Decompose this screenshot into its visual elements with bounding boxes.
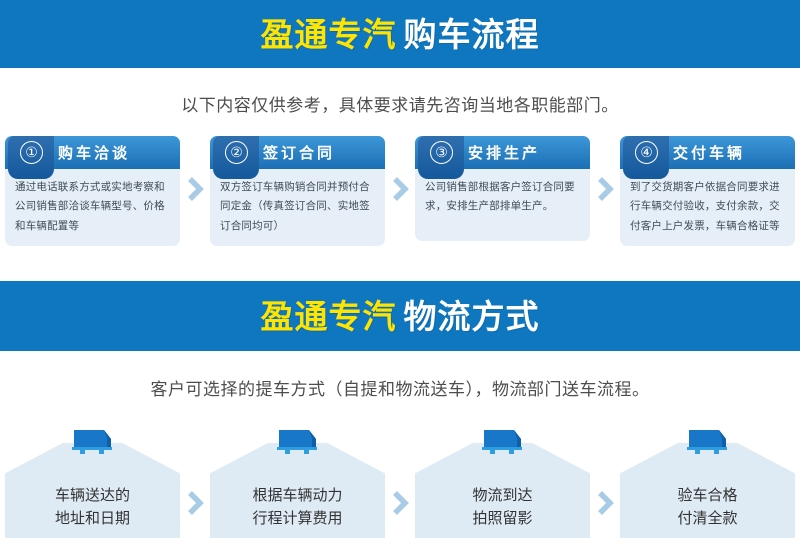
step-title-1: 购车洽谈 (58, 142, 130, 163)
step-title-4: 交付车辆 (673, 142, 745, 163)
logistics-banner: 盈通专汽 物流方式 (0, 281, 800, 351)
step-body-1: 通过电话联系方式或实地考察和公司销售部洽谈车辆型号、价格和车辆配置等 (5, 169, 180, 246)
truck-icon-4 (685, 426, 731, 460)
purchase-step-4[interactable]: ④ 交付车辆 到了交货期客户依据合同要求进行车辆交付验收，支付余款，交付客户上户… (620, 136, 795, 246)
logistics-intro-text: 客户可选择的提车方式（自提和物流送车），物流部门送车流程。 (0, 351, 800, 400)
brand-name: 盈通专汽 (261, 18, 397, 51)
purchase-step-1[interactable]: ① 购车洽谈 通过电话联系方式或实地考察和公司销售部洽谈车辆型号、价格和车辆配置… (5, 136, 210, 246)
step-number-badge-2: ② (225, 141, 248, 164)
step-body-4: 到了交货期客户依据合同要求进行车辆交付验收，支付余款，交付客户上户发票，车辆合格… (620, 169, 795, 246)
logistics-step-line2-2: 行程计算费用 (210, 507, 385, 530)
logistics-step-2[interactable]: 根据车辆动力 行程计算费用 (210, 426, 415, 538)
purchase-step-card-3: ③ 安排生产 公司销售部根据客户签订合同要求，安排生产部排单生产。 (415, 136, 590, 241)
purchase-step-header-1: ① 购车洽谈 (5, 136, 180, 169)
purchase-step-header-4: ④ 交付车辆 (620, 136, 795, 169)
purchase-step-header-2: ② 签订合同 (210, 136, 385, 169)
logistics-step-text-4: 验车合格 付清全款 (620, 484, 795, 531)
step-number-badge-4: ④ (635, 141, 658, 164)
logistics-step-line1-3: 物流到达 (415, 484, 590, 507)
purchase-step-card-2: ② 签订合同 双方签订车辆购销合同并预付合同定金（传真签订合同、实地签订合同均可… (210, 136, 385, 246)
purchase-step-card-4: ④ 交付车辆 到了交货期客户依据合同要求进行车辆交付验收，支付余款，交付客户上户… (620, 136, 795, 246)
truck-icon-3 (480, 426, 526, 460)
brand-name-logistics: 盈通专汽 (261, 300, 397, 333)
logistics-step-line2-3: 拍照留影 (415, 507, 590, 530)
step-number-badge-3: ③ (430, 141, 453, 164)
step-body-3: 公司销售部根据客户签订合同要求，安排生产部排单生产。 (415, 169, 590, 241)
logistics-step-card-4: 验车合格 付清全款 (620, 426, 795, 538)
chevron-right-icon-3 (590, 136, 620, 202)
chevron-right-icon-2 (385, 136, 415, 202)
logistics-step-text-1: 车辆送达的 地址和日期 (5, 484, 180, 531)
logistics-step-line2-1: 地址和日期 (5, 507, 180, 530)
purchase-step-3[interactable]: ③ 安排生产 公司销售部根据客户签订合同要求，安排生产部排单生产。 (415, 136, 620, 241)
logistics-step-line1-1: 车辆送达的 (5, 484, 180, 507)
purchase-banner-subject: 购车流程 (404, 18, 540, 51)
purchase-intro-text: 以下内容仅供参考，具体要求请先咨询当地各职能部门。 (0, 68, 800, 116)
logistics-step-1[interactable]: 车辆送达的 地址和日期 (5, 426, 210, 538)
logistics-step-card-2: 根据车辆动力 行程计算费用 (210, 426, 385, 538)
logistics-step-3[interactable]: 物流到达 拍照留影 (415, 426, 620, 538)
step-number-badge-1: ① (20, 141, 43, 164)
step-title-3: 安排生产 (468, 142, 540, 163)
logistics-step-card-3: 物流到达 拍照留影 (415, 426, 590, 538)
logistics-step-4[interactable]: 验车合格 付清全款 (620, 426, 795, 538)
logistics-step-line1-2: 根据车辆动力 (210, 484, 385, 507)
step-title-2: 签订合同 (263, 142, 335, 163)
logistics-banner-title: 盈通专汽 物流方式 (261, 300, 540, 333)
logistics-step-card-1: 车辆送达的 地址和日期 (5, 426, 180, 538)
logistics-step-line1-4: 验车合格 (620, 484, 795, 507)
step-body-2: 双方签订车辆购销合同并预付合同定金（传真签订合同、实地签订合同均可） (210, 169, 385, 246)
truck-icon-2 (275, 426, 321, 460)
logistics-steps-row: 车辆送达的 地址和日期 根据车辆动力 行程计算费用 (0, 418, 800, 538)
chevron-right-icon-1 (180, 136, 210, 202)
purchase-step-2[interactable]: ② 签订合同 双方签订车辆购销合同并预付合同定金（传真签订合同、实地签订合同均可… (210, 136, 415, 246)
logistics-step-line2-4: 付清全款 (620, 507, 795, 530)
logistics-step-text-3: 物流到达 拍照留影 (415, 484, 590, 531)
purchase-banner: 盈通专汽 购车流程 (0, 0, 800, 68)
purchase-step-card-1: ① 购车洽谈 通过电话联系方式或实地考察和公司销售部洽谈车辆型号、价格和车辆配置… (5, 136, 180, 246)
purchase-steps-row: ① 购车洽谈 通过电话联系方式或实地考察和公司销售部洽谈车辆型号、价格和车辆配置… (0, 136, 800, 246)
purchase-banner-title: 盈通专汽 购车流程 (261, 18, 540, 51)
truck-icon-1 (70, 426, 116, 460)
logistics-banner-subject: 物流方式 (404, 300, 540, 333)
logistics-step-text-2: 根据车辆动力 行程计算费用 (210, 484, 385, 531)
purchase-step-header-3: ③ 安排生产 (415, 136, 590, 169)
